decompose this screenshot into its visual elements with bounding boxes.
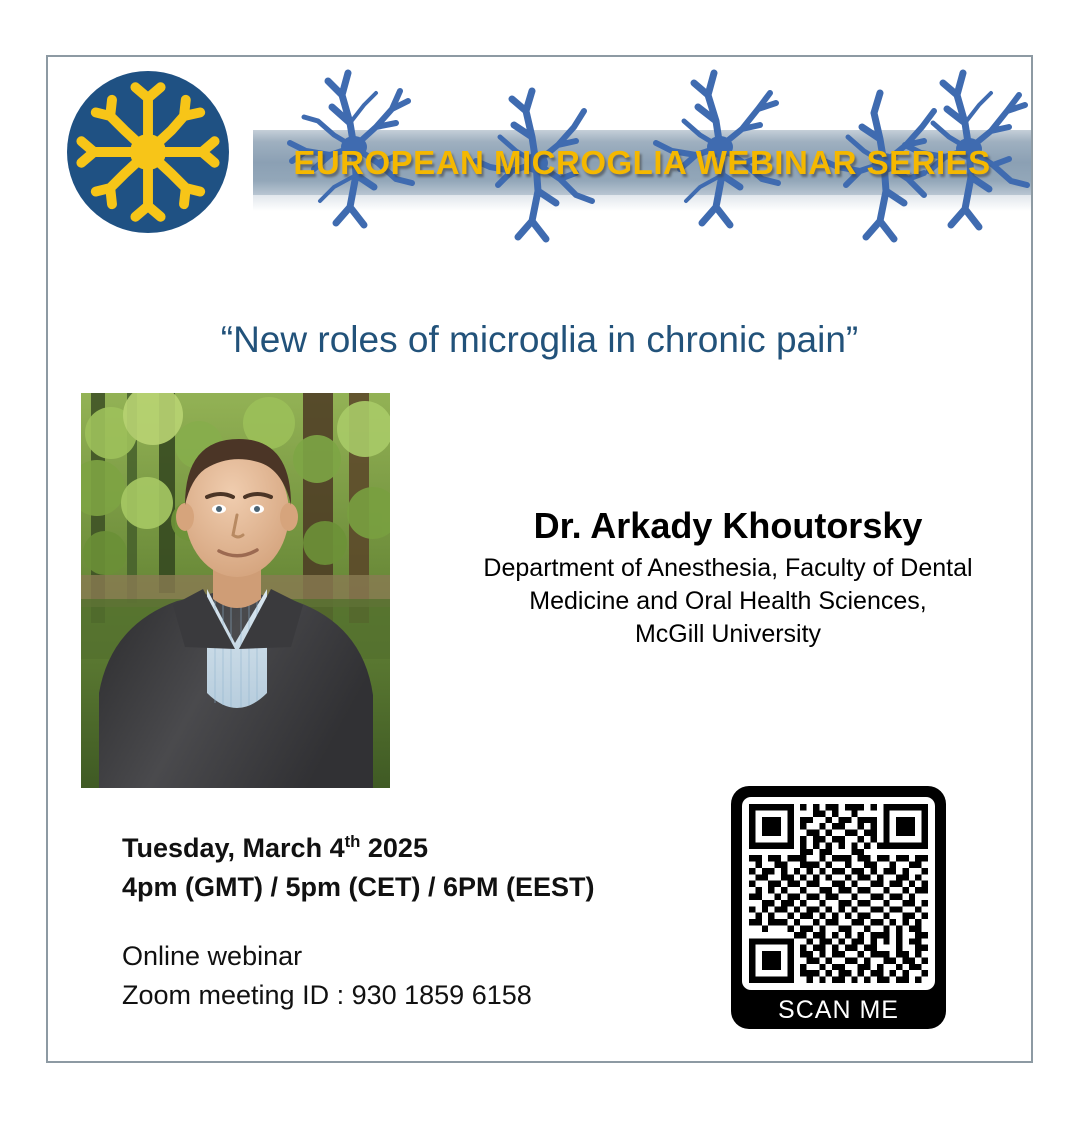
qr-code-icon[interactable] [749,804,928,983]
talk-title: “New roles of microglia in chronic pain” [48,319,1031,361]
european-microglia-logo [58,62,238,242]
scan-me-label: SCAN ME [742,990,935,1030]
logo-icon [58,62,238,242]
event-times: 4pm (GMT) / 5pm (CET) / 6PM (EEST) [122,868,595,907]
event-date-suffix: 2025 [360,833,428,863]
event-date-ordinal: th [345,832,361,851]
event-date-prefix: Tuesday, March 4 [122,833,345,863]
speaker-affiliation-line: Medicine and Oral Health Sciences, [428,585,1028,618]
speaker-affiliation-line: McGill University [428,618,1028,651]
speaker-info: Dr. Arkady Khoutorsky Department of Anes… [428,505,1028,651]
speaker-affiliation-line: Department of Anesthesia, Faculty of Den… [428,552,1028,585]
qr-code-surface[interactable] [742,797,935,990]
header-banner-bar: EUROPEAN MICROGLIA WEBINAR SERIES [253,130,1031,195]
event-meeting-id: Zoom meeting ID : 930 1859 6158 [122,976,595,1014]
event-format: Online webinar [122,937,595,975]
event-date: Tuesday, March 4th 2025 [122,829,595,868]
poster-header: EUROPEAN MICROGLIA WEBINAR SERIES [48,57,1031,257]
poster-frame: EUROPEAN MICROGLIA WEBINAR SERIES “New r… [46,55,1033,1063]
details-spacer [122,907,595,937]
speaker-photo [81,393,390,788]
event-details: Tuesday, March 4th 2025 4pm (GMT) / 5pm … [122,829,595,1014]
speaker-name: Dr. Arkady Khoutorsky [428,505,1028,546]
qr-code-block[interactable]: SCAN ME [731,786,946,1029]
banner-title: EUROPEAN MICROGLIA WEBINAR SERIES [253,144,1031,182]
portrait-image [81,393,390,788]
